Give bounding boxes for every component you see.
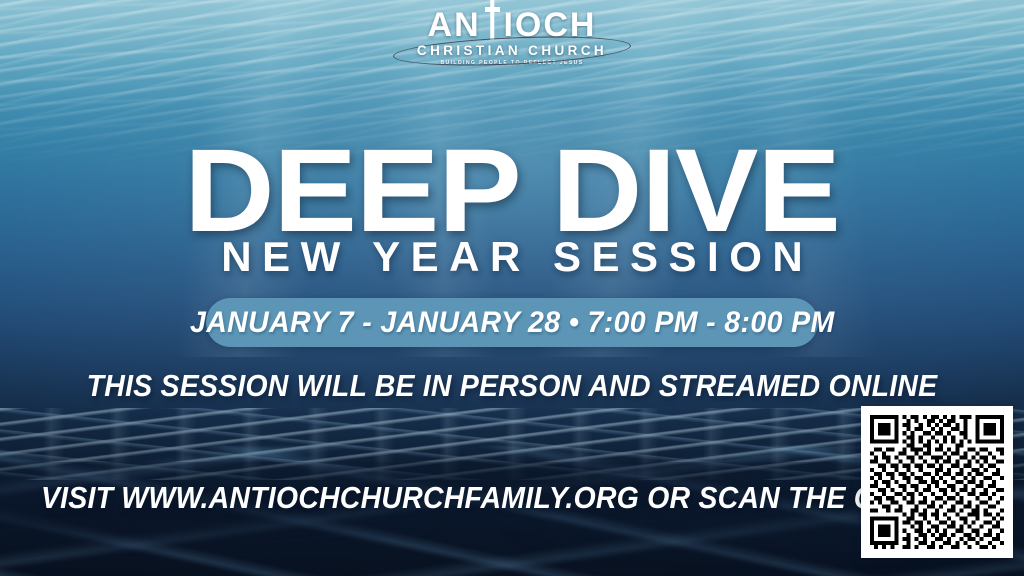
logo-wordmark-prefix: AN xyxy=(428,6,481,44)
antioch-church-logo: ANTIOCH CHRISTIAN CHURCH BUILDING PEOPLE… xyxy=(382,8,642,66)
session-format-text: THIS SESSION WILL BE IN PERSON AND STREA… xyxy=(41,368,983,404)
event-subtitle: NEW YEAR SESSION xyxy=(0,236,1024,278)
logo-cross-letter: T xyxy=(481,8,504,42)
poster-content: ANTIOCH CHRISTIAN CHURCH BUILDING PEOPLE… xyxy=(0,0,1024,576)
website-callout-text: VISIT WWW.ANTIOCHCHURCHFAMILY.ORG OR SCA… xyxy=(41,480,983,516)
deep-dive-event-poster: ANTIOCH CHRISTIAN CHURCH BUILDING PEOPLE… xyxy=(0,0,1024,576)
logo-subtitle-area: CHRISTIAN CHURCH xyxy=(382,43,642,59)
date-time-badge: JANUARY 7 - JANUARY 28 • 7:00 PM - 8:00 … xyxy=(206,298,818,347)
logo-subtitle: CHRISTIAN CHURCH xyxy=(382,43,642,59)
qr-code[interactable] xyxy=(861,406,1013,558)
qr-code-image xyxy=(870,415,1004,549)
cross-icon xyxy=(485,0,500,40)
date-time-text: JANUARY 7 - JANUARY 28 • 7:00 PM - 8:00 … xyxy=(190,306,835,340)
